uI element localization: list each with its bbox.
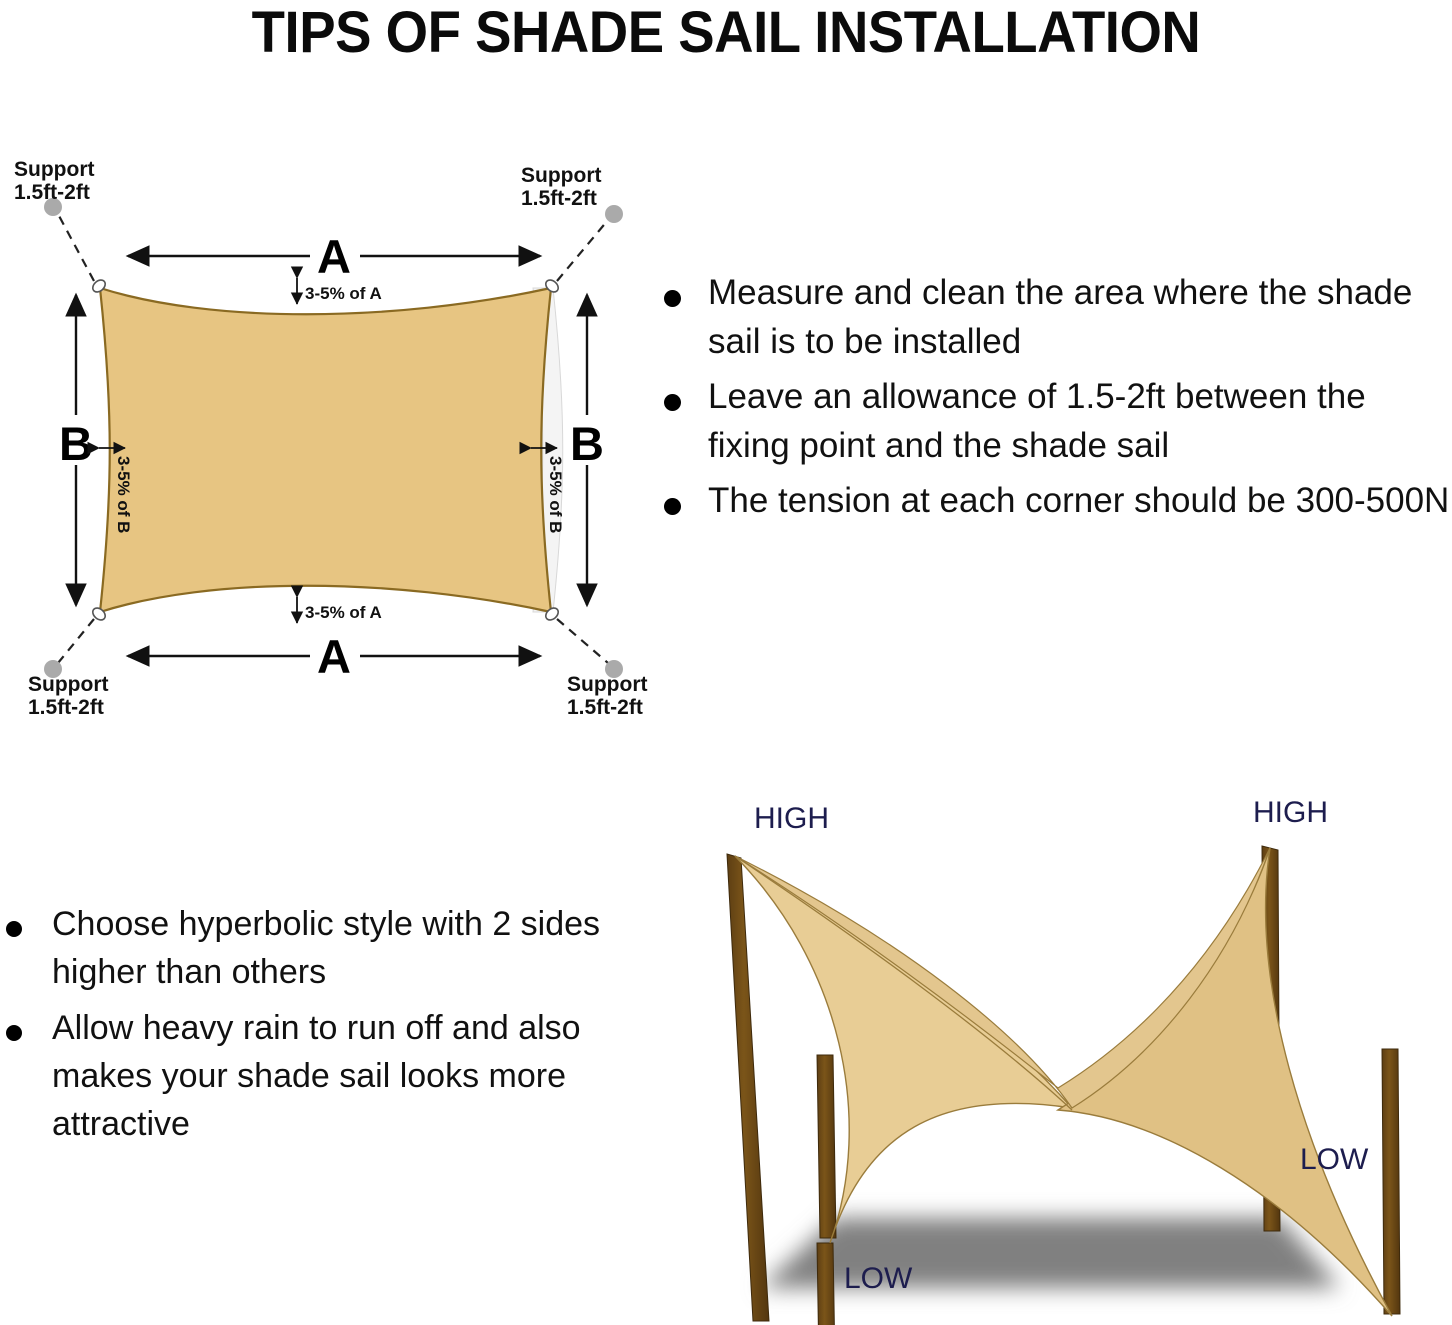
support-label-line2: 1.5ft-2ft <box>28 696 104 719</box>
rectangular-sail-diagram: Support 1.5ft-2ft Support 1.5ft-2ft Supp… <box>0 160 660 740</box>
shade-sail-shape <box>100 288 551 612</box>
bullet-dot-icon <box>6 921 22 937</box>
curve-label-top: 3-5% of A <box>305 284 382 303</box>
label-low-left: LOW <box>844 1262 913 1295</box>
tip-text: Measure and clean the area where the sha… <box>708 268 1452 366</box>
page-title: TIPS OF SHADE SAIL INSTALLATION <box>44 2 1409 64</box>
tip-text: Allow heavy rain to run off and also mak… <box>52 1004 625 1148</box>
support-label-line1: Support <box>567 673 647 696</box>
label-high-right: HIGH <box>1253 796 1328 829</box>
support-label-line2: 1.5ft-2ft <box>521 187 597 210</box>
tip-text: The tension at each corner should be 300… <box>708 476 1452 525</box>
tip-item: Choose hyperbolic style with 2 sides hig… <box>0 900 625 996</box>
curve-label-right: 3-5% of B <box>546 456 565 533</box>
support-label-top-left: Support 1.5ft-2ft <box>14 160 94 204</box>
bullet-dot-icon <box>6 1025 22 1041</box>
tip-text: Choose hyperbolic style with 2 sides hig… <box>52 900 625 996</box>
bullet-dot-icon <box>664 498 681 515</box>
installation-tips-list: Measure and clean the area where the sha… <box>656 268 1452 531</box>
dimension-label-a-bottom: A <box>317 630 351 683</box>
dimension-label-b-right: B <box>570 417 604 470</box>
support-label-line1: Support <box>521 164 601 187</box>
support-label-line1: Support <box>14 160 94 181</box>
support-label-line1: Support <box>28 673 108 696</box>
label-high-left: HIGH <box>754 802 829 835</box>
support-label-bottom-left: Support 1.5ft-2ft <box>28 673 108 719</box>
tip-text: Leave an allowance of 1.5-2ft between th… <box>708 372 1452 470</box>
support-label-line2: 1.5ft-2ft <box>567 696 643 719</box>
tip-item: Measure and clean the area where the sha… <box>656 268 1452 366</box>
curve-label-bottom: 3-5% of A <box>305 603 382 622</box>
tip-item: The tension at each corner should be 300… <box>656 476 1452 525</box>
support-label-line2: 1.5ft-2ft <box>14 181 90 204</box>
bullet-dot-icon <box>664 394 681 411</box>
dimension-label-a-top: A <box>317 230 351 283</box>
hyperbolic-style-tips-list: Choose hyperbolic style with 2 sides hig… <box>0 900 625 1156</box>
support-label-bottom-right: Support 1.5ft-2ft <box>567 673 647 719</box>
infographic-page: TIPS OF SHADE SAIL INSTALLATION <box>0 0 1452 1325</box>
post-low-right <box>1382 1049 1400 1314</box>
post-low-left <box>817 1055 836 1325</box>
tip-item: Allow heavy rain to run off and also mak… <box>0 1004 625 1148</box>
dimension-label-b-left: B <box>59 417 93 470</box>
tip-item: Leave an allowance of 1.5-2ft between th… <box>656 372 1452 470</box>
label-low-right-overlay: LOW <box>1300 1143 1368 1177</box>
hyperbolic-sail-illustration: HIGH HIGH LOW LOW <box>640 788 1452 1325</box>
post-high-left <box>727 854 769 1321</box>
curve-label-left: 3-5% of B <box>114 456 133 533</box>
support-label-top-right: Support 1.5ft-2ft <box>521 164 601 210</box>
bullet-dot-icon <box>664 290 681 307</box>
